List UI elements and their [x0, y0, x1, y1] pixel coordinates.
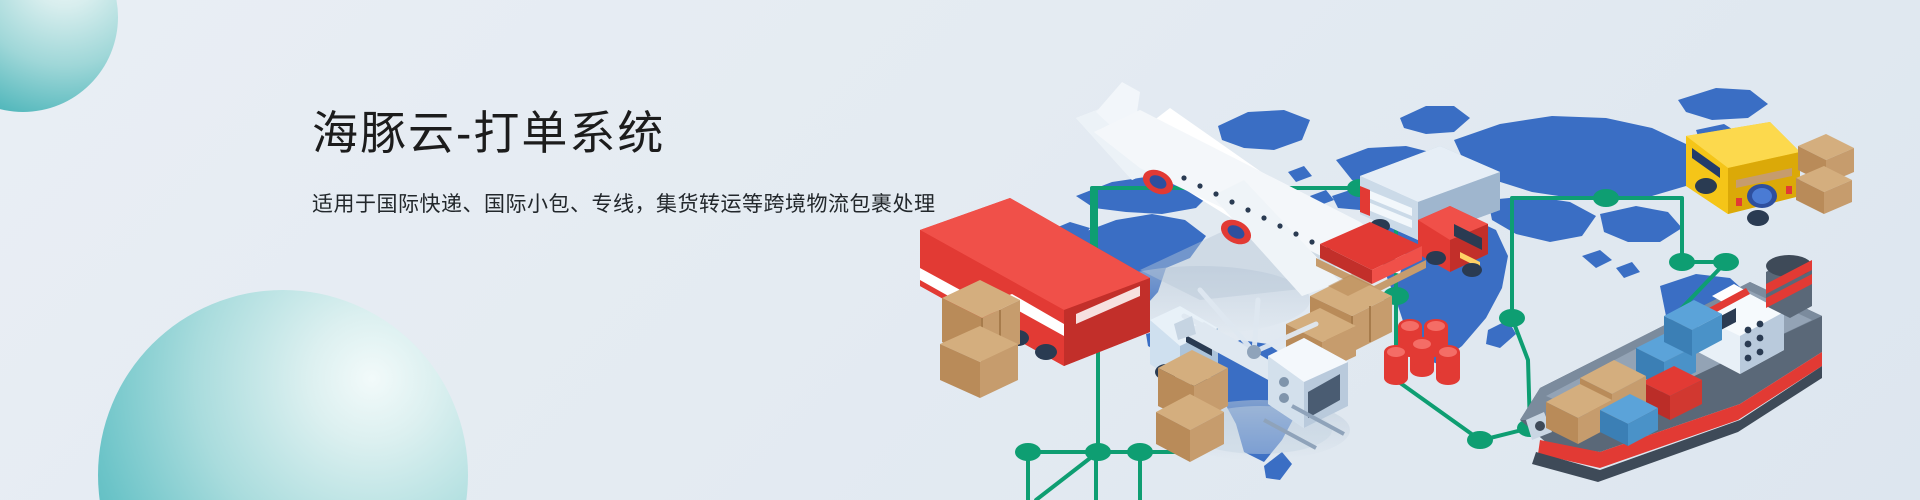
global-logistics-illustration [840, 0, 1920, 500]
hero-banner: 海豚云-打单系统 适用于国际快递、国际小包、专线，集货转运等跨境物流包裹处理 [0, 0, 1920, 500]
delivery-van-icon [1686, 122, 1854, 226]
decorative-circle-top-left [0, 0, 118, 112]
decorative-circle-bottom-left [98, 290, 468, 500]
